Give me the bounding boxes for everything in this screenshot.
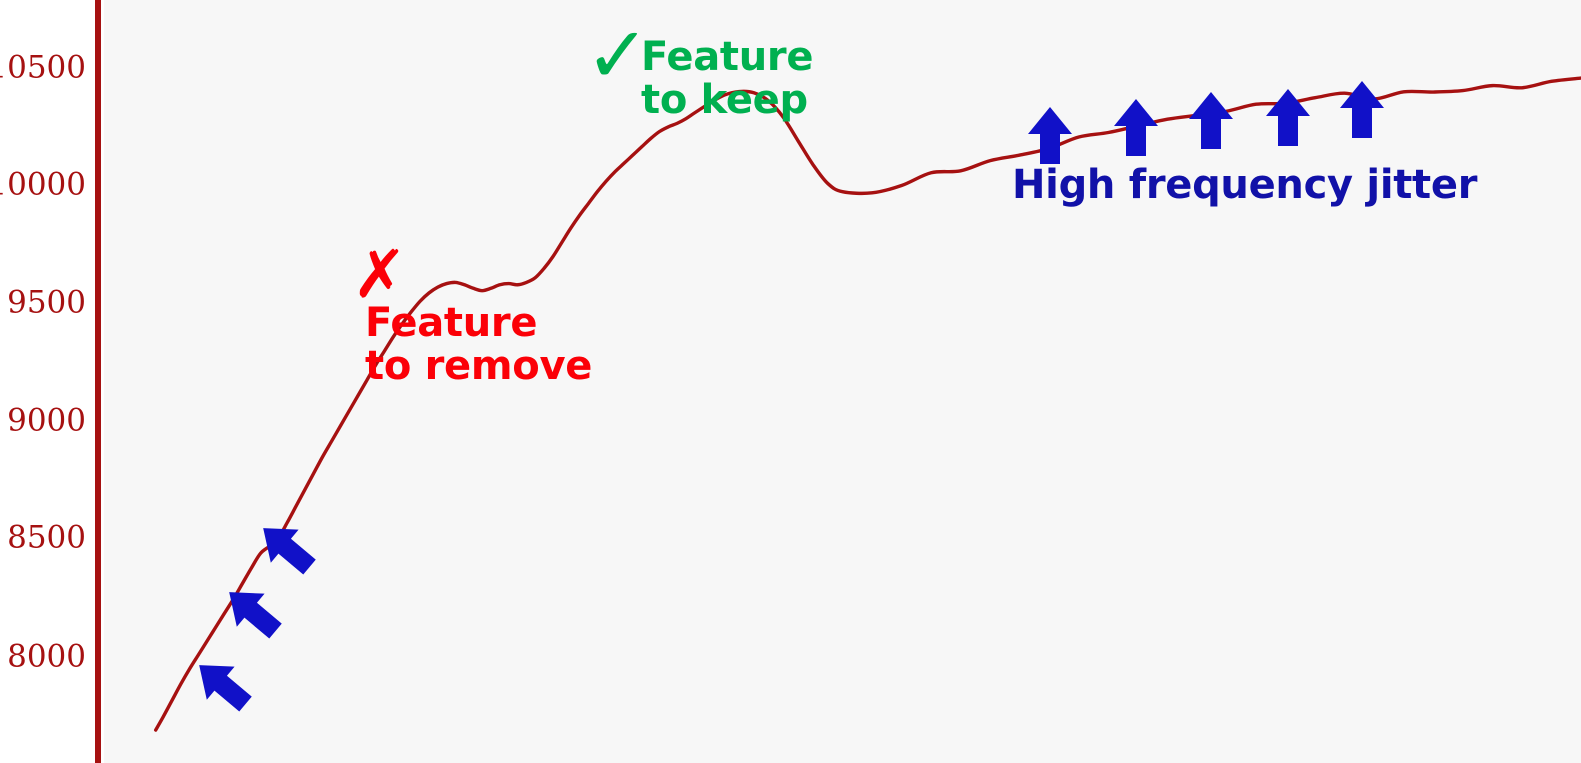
- y-tick-label-8500: 8500: [7, 523, 86, 554]
- y-tick-label-10000: 10000: [0, 170, 86, 201]
- y-tick-label-10500: 10500: [0, 53, 86, 84]
- y-tick-label-9000: 9000: [7, 406, 86, 437]
- annotation-feature-to-keep-label: Feature to keep: [641, 36, 813, 122]
- annotation-feature-to-remove-label: Feature to remove: [365, 302, 592, 388]
- y-axis-spine: [95, 0, 101, 763]
- feature-annotation-chart: 10500 10000 9500 9000 8500 8000: [0, 0, 1581, 763]
- y-tick-label-9500: 9500: [7, 288, 86, 319]
- annotation-high-frequency-jitter-label: High frequency jitter: [1012, 164, 1477, 207]
- plot-area: [104, 0, 1581, 763]
- cross-mark-icon: ✗: [352, 242, 407, 308]
- y-tick-label-8000: 8000: [7, 642, 86, 673]
